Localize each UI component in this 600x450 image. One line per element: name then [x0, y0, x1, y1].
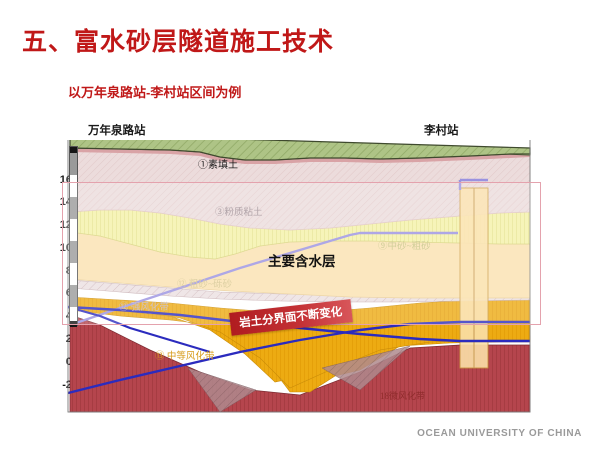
station-label-left: 万年泉路站 [88, 122, 146, 138]
footer-organization: OCEAN UNIVERSITY OF CHINA [417, 428, 582, 439]
slide-canvas: 五、富水砂层隧道施工技术 以万年泉路站-李村站区间为例 万年泉路站 李村站 16… [0, 0, 600, 450]
station-label-right: 李村站 [424, 122, 459, 138]
borehole-left [69, 146, 78, 326]
geological-cross-section [60, 140, 540, 420]
page-subtitle: 以万年泉路站-李村站区间为例 [68, 82, 241, 101]
page-title: 五、富水砂层隧道施工技术 [22, 22, 334, 58]
